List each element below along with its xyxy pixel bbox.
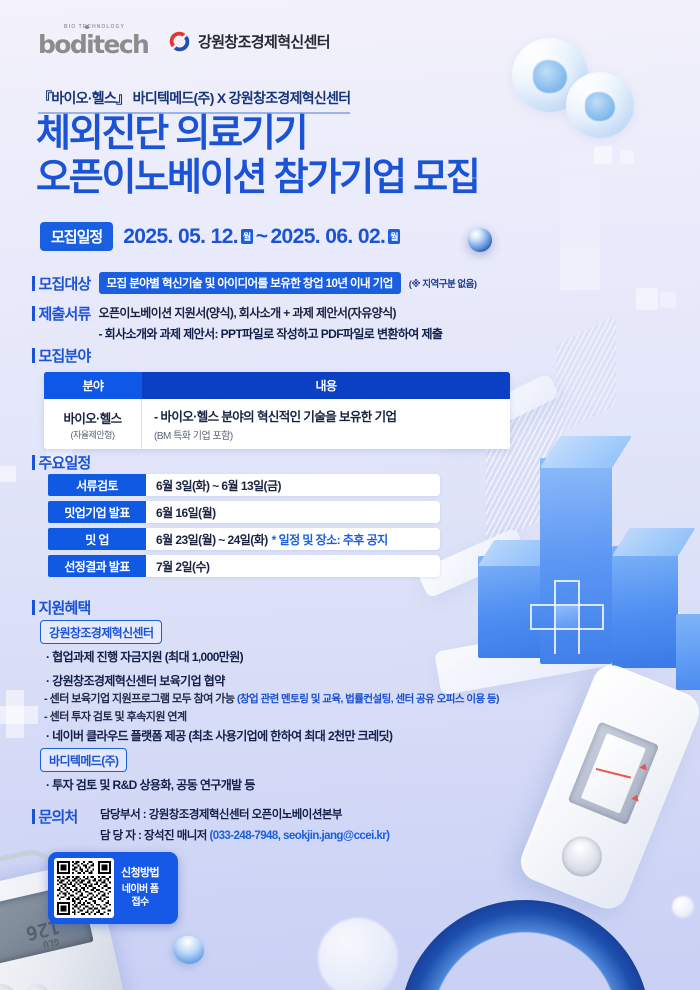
recruitment-period-value: 2025. 05. 12. 월 ~ 2025. 06. 02. 월	[123, 225, 400, 249]
benefits-chip-ccei: 강원창조경제혁신센터	[40, 620, 162, 644]
contact-dept-row: 담당부서 : 강원창조경제혁신센터 오픈이노베이션본부	[100, 806, 389, 822]
table-row: 바이오·헬스 (자율제안형) - 바이오·헬스 분야의 혁신적인 기술을 보유한…	[44, 399, 510, 449]
logo-bar: BIO TECHNOLOGY boditech 강원창조경제혁신센터	[38, 24, 330, 58]
schedule-label-3: 선정결과 발표	[48, 555, 146, 577]
end-date: 2025. 06. 02.	[270, 225, 385, 249]
benefit-item-2: · 네이버 클라우드 플랫폼 제공 (최초 사용기업에 한하여 최대 2천만 크…	[46, 727, 392, 744]
schedule-value-1: 6월 16일(월)	[156, 504, 216, 521]
benefit-subitem-0-main: - 센터 보육기업 지원프로그램 모두 참여 가능	[44, 693, 234, 705]
list-item: 밋 업 6월 23일(월) ~ 24일(화) * 일정 및 장소: 추후 공지	[48, 528, 440, 550]
schedule-value-2: 6월 23일(월) ~ 24일(화)	[156, 531, 268, 548]
benefit-subitem-0-highlight: (창업 관련 멘토링 및 교육, 법률컨설팅, 센터 공유 오피스 이용 등)	[237, 693, 499, 705]
apply-qr-panel[interactable]: 신청방법 네이버 폼 접수	[48, 852, 178, 924]
boditech-logo: BIO TECHNOLOGY boditech	[38, 24, 150, 58]
schedule-value-3-wrap: 7월 2일(수)	[146, 555, 440, 577]
qr-code-icon[interactable]	[54, 858, 114, 918]
poster-subtitle: 『바이오·헬스』 바디텍메드(주) X 강원창조경제혁신센터	[38, 88, 350, 114]
schedule-value-3: 7월 2일(수)	[156, 558, 209, 575]
contact-person-value: 장석진 매니저	[144, 830, 207, 842]
qr-title: 신청방법	[121, 867, 159, 881]
list-item: 밋업기업 발표 6월 16일(월)	[48, 501, 440, 523]
field-row-content: - 바이오·헬스 분야의 혁신적인 기술을 보유한 기업	[154, 406, 510, 425]
benefit-bodi-item-0: · 투자 검토 및 R&D 상용화, 공동 연구개발 등	[46, 776, 255, 793]
target-section: 모집대상 모집 분야별 혁신기술 및 아이디어를 보유한 창업 10년 이내 기…	[32, 272, 477, 294]
target-heading: 모집대상	[32, 273, 91, 294]
field-table-col-field: 분야	[44, 372, 142, 399]
start-date: 2025. 05. 12.	[123, 225, 238, 249]
recruitment-period-row: 모집일정 2025. 05. 12. 월 ~ 2025. 06. 02. 월	[40, 222, 400, 251]
contact-details: 담당부서 : 강원창조경제혁신센터 오픈이노베이션본부 담 당 자 : 장석진 …	[100, 806, 389, 848]
contact-person-label: 담 당 자 :	[100, 830, 141, 842]
end-day-badge: 월	[388, 229, 400, 244]
documents-section: 제출서류 오픈이노베이션 지원서(양식), 회사소개 + 과제 제안서(자유양식…	[32, 303, 442, 342]
main-schedule-heading: 주요일정	[32, 452, 91, 473]
target-pill: 모집 분야별 혁신기술 및 아이디어를 보유한 창업 10년 이내 기업	[99, 272, 401, 294]
list-item: 서류검토 6월 3일(화) ~ 6월 13일(금)	[48, 474, 440, 496]
field-row-name: 바이오·헬스	[63, 408, 121, 427]
start-day-badge: 월	[241, 229, 253, 244]
schedule-value-1-wrap: 6월 16일(월)	[146, 501, 440, 523]
field-heading: 모집분야	[32, 345, 91, 366]
schedule-label-1: 밋업기업 발표	[48, 501, 146, 523]
schedule-label-0: 서류검토	[48, 474, 146, 496]
poster-canvas: 126 GLU BIO TECHNOLOGY boditech	[0, 0, 700, 990]
contact-heading: 문의처	[32, 806, 78, 827]
benefits-heading: 지원혜택	[32, 597, 91, 618]
benefits-chip-boditech: 바디텍메드(주)	[40, 748, 127, 772]
field-table-header: 분야 내용	[44, 372, 510, 399]
schedule-value-0-wrap: 6월 3일(화) ~ 6월 13일(금)	[146, 474, 440, 496]
list-item: 선정결과 발표 7월 2일(수)	[48, 555, 440, 577]
ccei-logo: 강원창조경제혁신센터	[168, 30, 330, 53]
schedule-value-2-wrap: 6월 23일(월) ~ 24일(화) * 일정 및 장소: 추후 공지	[146, 528, 440, 550]
ccei-mark-icon	[168, 30, 191, 53]
target-note: (※ 지역구분 없음)	[409, 276, 477, 290]
recruitment-period-label: 모집일정	[40, 222, 113, 251]
qr-panel-text: 신청방법 네이버 폼 접수	[121, 867, 159, 910]
ccei-logo-text: 강원창조경제혁신센터	[198, 31, 330, 52]
schedule-label-2: 밋 업	[48, 528, 146, 550]
benefit-item-0: · 협업과제 진행 자금지원 (최대 1,000만원)	[46, 648, 243, 665]
main-schedule-list: 서류검토 6월 3일(화) ~ 6월 13일(금) 밋업기업 발표 6월 16일…	[48, 474, 440, 582]
contact-dept-label: 담당부서 :	[100, 809, 146, 821]
date-separator: ~	[256, 225, 268, 249]
contact-person-row: 담 당 자 : 장석진 매니저 (033-248-7948, seokjin.j…	[100, 827, 389, 843]
field-row-content-sub: (BM 특화 기업 포함)	[154, 427, 510, 442]
page-title: 체외진단 의료기기 오픈이노베이션 참가기업 모집	[36, 112, 479, 200]
qr-method: 네이버 폼 접수	[121, 884, 159, 909]
contact-phone-email[interactable]: (033-248-7948, seokjin.jang@ccei.kr)	[209, 830, 389, 842]
schedule-value-0: 6월 3일(화) ~ 6월 13일(금)	[156, 477, 281, 494]
documents-line-1: 오픈이노베이션 지원서(양식), 회사소개 + 과제 제안서(자유양식)	[99, 304, 443, 321]
field-table-col-content: 내용	[142, 372, 510, 399]
field-table: 분야 내용 바이오·헬스 (자율제안형) - 바이오·헬스 분야의 혁신적인 기…	[44, 372, 510, 449]
documents-line-2: - 회사소개와 과제 제안서: PPT파일로 작성하고 PDF파일로 변환하여 …	[99, 325, 443, 342]
contact-dept-value: 강원창조경제혁신센터 오픈이노베이션본부	[149, 809, 342, 821]
benefit-subitem-1: - 센터 투자 검토 및 후속지원 연계	[44, 708, 187, 724]
schedule-note-2: * 일정 및 장소: 추후 공지	[272, 531, 388, 548]
benefit-subitem-0: - 센터 보육기업 지원프로그램 모두 참여 가능 (창업 관련 멘토링 및 교…	[44, 690, 499, 706]
documents-heading: 제출서류	[32, 303, 91, 324]
boditech-dot-icon	[85, 25, 89, 29]
benefit-item-1: · 강원창조경제혁신센터 보육기업 협약	[46, 672, 225, 689]
boditech-wordmark: boditech	[38, 30, 148, 59]
field-row-name-sub: (자율제안형)	[71, 428, 115, 441]
